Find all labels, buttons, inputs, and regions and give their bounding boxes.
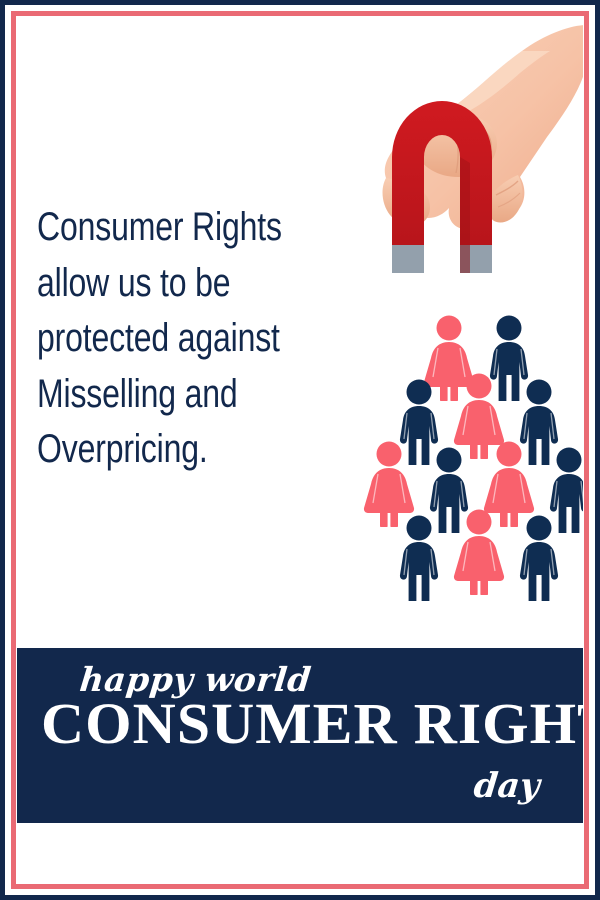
hand-holding-sale-magnet-illustration: SALE: [372, 17, 583, 307]
bottom-banner: happy world CONSUMER RIGHTS day: [17, 648, 583, 823]
magnet-sale-label: SALE: [376, 61, 480, 118]
person-man-icon: [513, 515, 565, 601]
page-title: Consumer Rights allow us to be protected…: [37, 200, 317, 478]
person-man-icon: [393, 515, 445, 601]
magnet-icon: SALE: [376, 61, 492, 273]
poster-canvas: Consumer Rights allow us to be protected…: [17, 17, 583, 883]
person-woman-icon: [453, 509, 505, 595]
hand-shape: [383, 25, 583, 229]
banner-line-consumer-rights: CONSUMER RIGHTS: [41, 695, 577, 753]
people-group: [355, 305, 583, 630]
poster-root: Consumer Rights allow us to be protected…: [0, 0, 600, 900]
banner-line-day: day: [472, 766, 542, 806]
